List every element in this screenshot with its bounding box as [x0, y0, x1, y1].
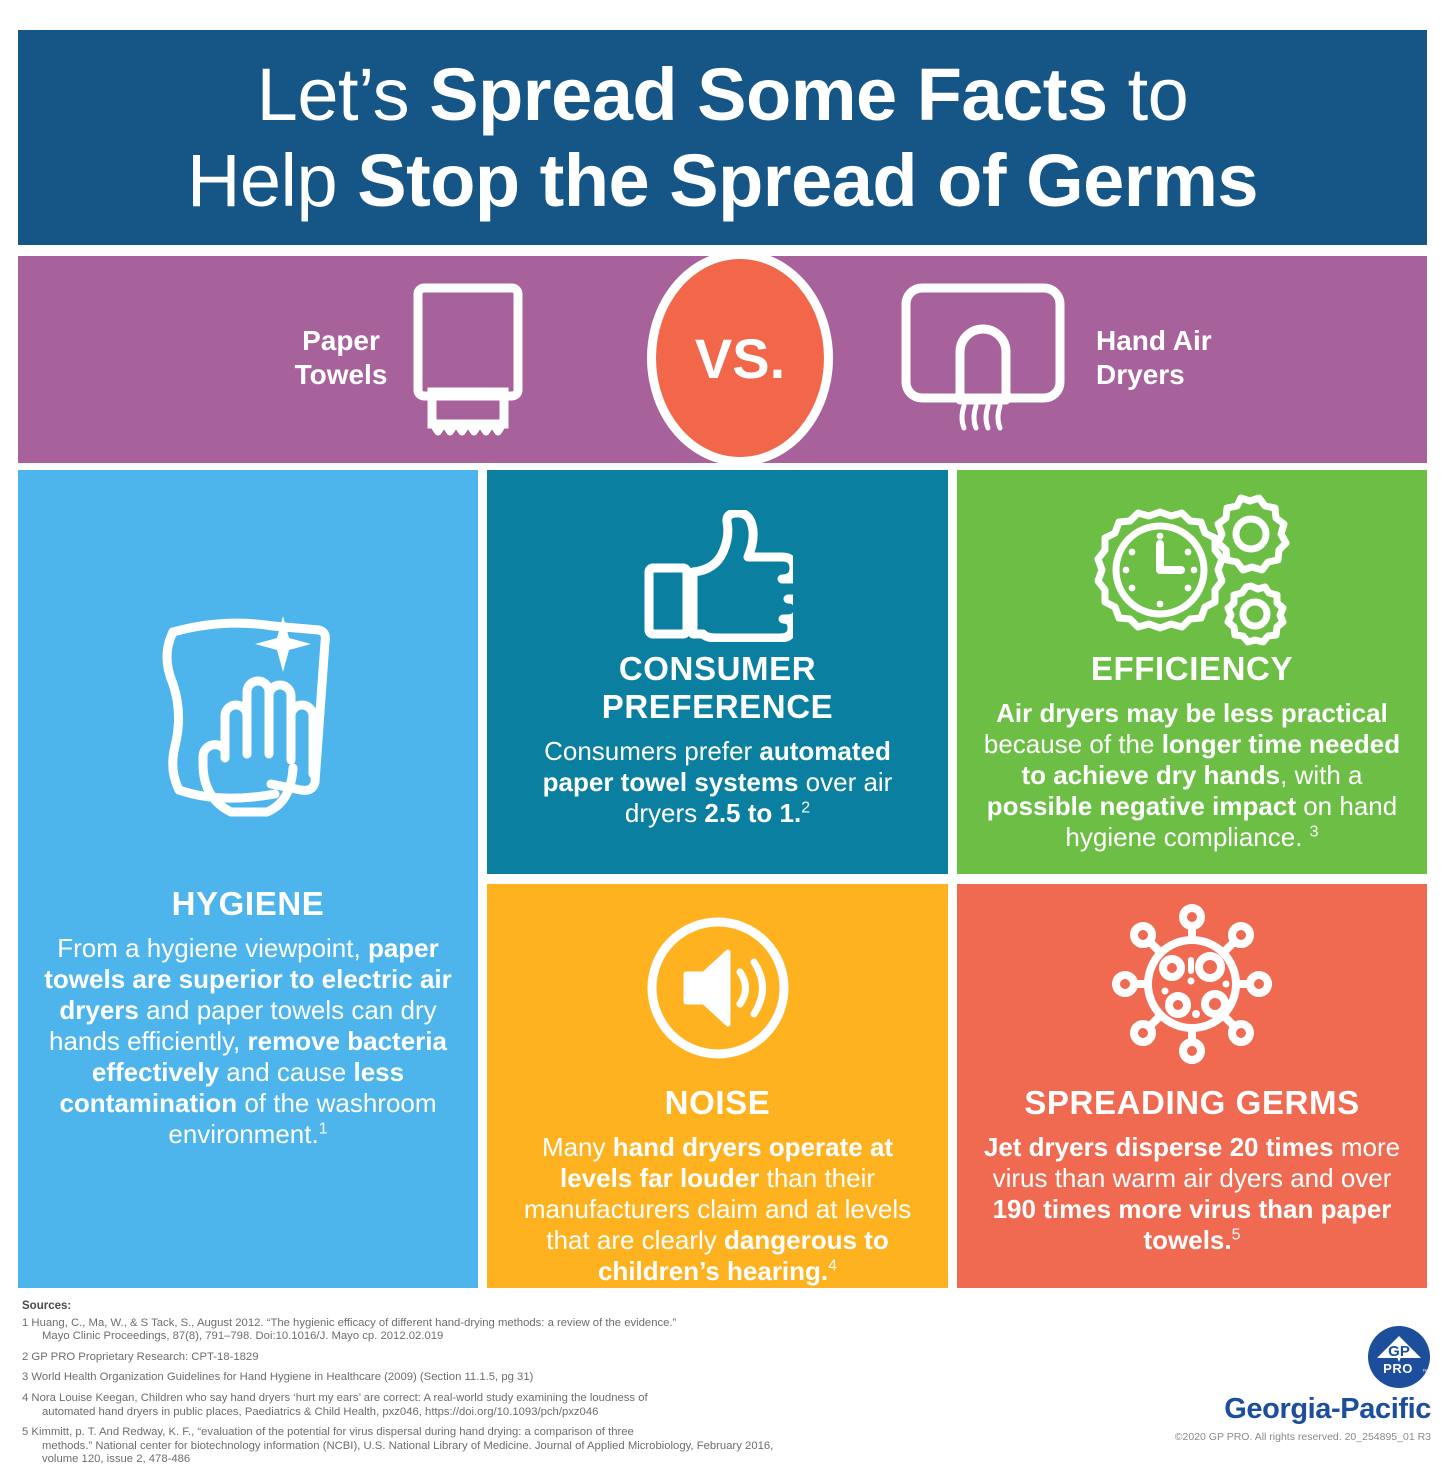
vs-label: VS. — [695, 326, 785, 391]
copyright-text: ©2020 GP PRO. All rights reserved. 20_25… — [1131, 1431, 1431, 1444]
body-text: Many — [542, 1132, 613, 1162]
body-text-bold: 190 times more virus than paper towels. — [993, 1194, 1392, 1255]
body-text: From a hygiene viewpoint, — [57, 933, 368, 963]
title-text-bold: Spread Some Facts — [429, 53, 1107, 136]
virus-icon — [957, 904, 1427, 1064]
source-line: 2 GP PRO Proprietary Research: CPT-18-18… — [22, 1351, 259, 1363]
panel-efficiency: EFFICIENCY Air dryers may be less practi… — [957, 470, 1427, 874]
panel-noise: NOISE Many hand dryers operate at levels… — [487, 884, 948, 1288]
thumbs-up-icon — [487, 510, 948, 642]
hand-air-dryers-label: Hand Air Dryers — [1096, 324, 1276, 392]
sources-title: Sources: — [22, 1300, 782, 1314]
source-line-cont: automated hand dryers in public places, … — [32, 1406, 782, 1420]
clock-gears-icon — [957, 490, 1427, 650]
panel-efficiency-body: Air dryers may be less practical because… — [983, 698, 1401, 853]
vs-badge: VS. — [647, 250, 833, 466]
title-text: to — [1108, 53, 1189, 136]
source-item: 3 World Health Organization Guidelines f… — [22, 1371, 782, 1385]
panel-spreading-germs: SPREADING GERMS Jet dryers disperse 20 t… — [957, 884, 1427, 1288]
trademark-symbol: ™ — [1422, 1369, 1429, 1376]
panel-hygiene-content: HYGIENE From a hygiene viewpoint, paper … — [18, 885, 478, 1150]
title-text: Let’s — [257, 53, 430, 136]
brand-name: Georgia-Pacific — [1131, 1393, 1431, 1425]
title-text: Help — [187, 139, 357, 222]
panel-efficiency-content: EFFICIENCY Air dryers may be less practi… — [957, 650, 1427, 853]
source-line: 1 Huang, C., Ma, W., & S Tack, S., Augus… — [22, 1317, 676, 1329]
comparison-band: Paper Towels VS. Hand Air Dryers — [18, 256, 1427, 463]
gp-pro-logo-icon: GP PRO ™ — [1367, 1325, 1431, 1389]
source-item: 4 Nora Louise Keegan, Children who say h… — [22, 1392, 782, 1419]
source-item: 5 Kimmitt, p. T. And Redway, K. F., “eva… — [22, 1426, 782, 1467]
panel-consumer-heading: CONSUMER PREFERENCE — [513, 650, 922, 726]
speaker-volume-icon — [487, 914, 948, 1062]
paper-towels-label: Paper Towels — [276, 324, 406, 392]
panel-germs-heading: SPREADING GERMS — [983, 1084, 1401, 1122]
panel-hygiene: HYGIENE From a hygiene viewpoint, paper … — [18, 470, 478, 1288]
body-text-bold: Jet dryers disperse 20 times — [984, 1132, 1334, 1162]
footnote-marker: 1 — [319, 1120, 328, 1137]
footnote-marker: 4 — [828, 1257, 837, 1274]
footnote-marker: 5 — [1232, 1226, 1241, 1243]
hand-air-dryer-icon — [898, 280, 1068, 450]
panel-hygiene-body: From a hygiene viewpoint, paper towels a… — [44, 933, 452, 1150]
source-item: 1 Huang, C., Ma, W., & S Tack, S., Augus… — [22, 1317, 782, 1344]
gp-mark-text: GP — [1388, 1343, 1410, 1360]
panel-noise-content: NOISE Many hand dryers operate at levels… — [487, 1084, 948, 1287]
infographic-page: Let’s Spread Some Facts to Help Stop the… — [0, 0, 1445, 1445]
header-banner: Let’s Spread Some Facts to Help Stop the… — [18, 30, 1427, 245]
body-text: and cause — [219, 1057, 353, 1087]
panel-hygiene-heading: HYGIENE — [44, 885, 452, 923]
title-text-bold: Stop the Spread of Germs — [357, 139, 1258, 222]
sources-block: Sources: 1 Huang, C., Ma, W., & S Tack, … — [22, 1300, 782, 1474]
page-title: Let’s Spread Some Facts to Help Stop the… — [187, 52, 1258, 224]
source-line-cont: methods.” National center for biotechnol… — [32, 1440, 782, 1467]
paper-towel-dispenser-icon — [398, 280, 538, 445]
brand-block: GP PRO ™ Georgia-Pacific ©2020 GP PRO. A… — [1131, 1325, 1431, 1444]
panel-germs-body: Jet dryers disperse 20 times more virus … — [983, 1132, 1401, 1256]
footnote-marker: 3 — [1310, 823, 1319, 840]
fact-panel-grid: HYGIENE From a hygiene viewpoint, paper … — [18, 470, 1427, 1288]
title-line-1: Let’s Spread Some Facts to — [257, 53, 1189, 136]
hand-wiping-towel-icon — [18, 590, 478, 820]
panel-consumer-content: CONSUMER PREFERENCE Consumers prefer aut… — [487, 650, 948, 829]
footnote-marker: 2 — [801, 799, 810, 816]
source-item: 2 GP PRO Proprietary Research: CPT-18-18… — [22, 1351, 782, 1365]
panel-consumer-preference: CONSUMER PREFERENCE Consumers prefer aut… — [487, 470, 948, 874]
panel-noise-heading: NOISE — [513, 1084, 922, 1122]
body-text: Consumers prefer — [544, 736, 759, 766]
panel-efficiency-heading: EFFICIENCY — [983, 650, 1401, 688]
panel-noise-body: Many hand dryers operate at levels far l… — [513, 1132, 922, 1287]
source-line: 5 Kimmitt, p. T. And Redway, K. F., “eva… — [22, 1426, 634, 1438]
body-text-bold: possible negative impact — [987, 791, 1296, 821]
panel-consumer-body: Consumers prefer automated paper towel s… — [513, 736, 922, 829]
panel-germs-content: SPREADING GERMS Jet dryers disperse 20 t… — [957, 1084, 1427, 1256]
title-line-2: Help Stop the Spread of Germs — [187, 139, 1258, 222]
pro-mark-text: PRO — [1383, 1361, 1413, 1376]
body-text-bold: Air dryers may be less practical — [996, 698, 1388, 728]
body-text: , with a — [1280, 760, 1362, 790]
body-text-bold: 2.5 to 1. — [704, 798, 801, 828]
source-line: 3 World Health Organization Guidelines f… — [22, 1371, 533, 1383]
body-text: because of the — [984, 729, 1162, 759]
source-line: 4 Nora Louise Keegan, Children who say h… — [22, 1392, 648, 1404]
source-line-cont: Mayo Clinic Proceedings, 87(8), 791–798.… — [32, 1330, 782, 1344]
